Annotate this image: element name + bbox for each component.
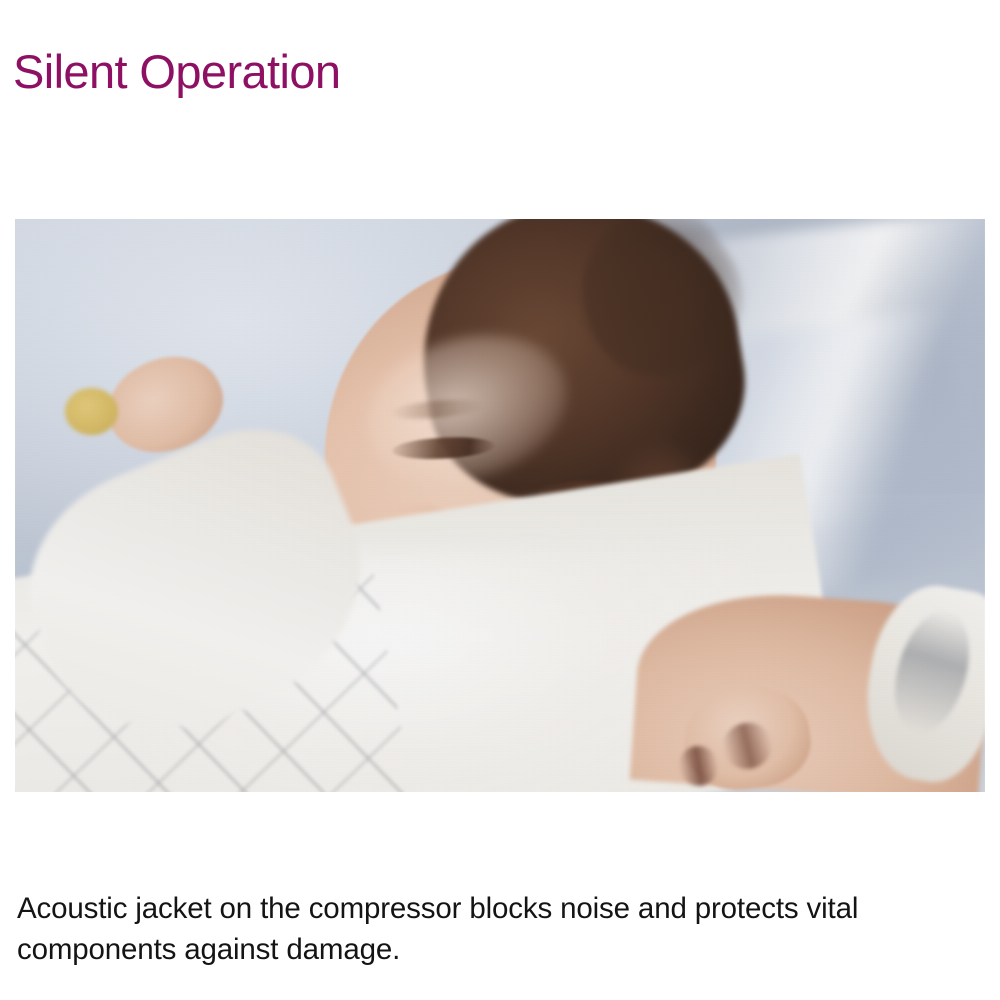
feature-image — [15, 219, 985, 792]
feature-description: Acoustic jacket on the compressor blocks… — [17, 888, 957, 970]
pacifier-icon — [65, 388, 117, 435]
page-title: Silent Operation — [13, 41, 340, 103]
feature-panel: Silent Operation — [0, 0, 1000, 1000]
photo-stage — [15, 219, 985, 792]
